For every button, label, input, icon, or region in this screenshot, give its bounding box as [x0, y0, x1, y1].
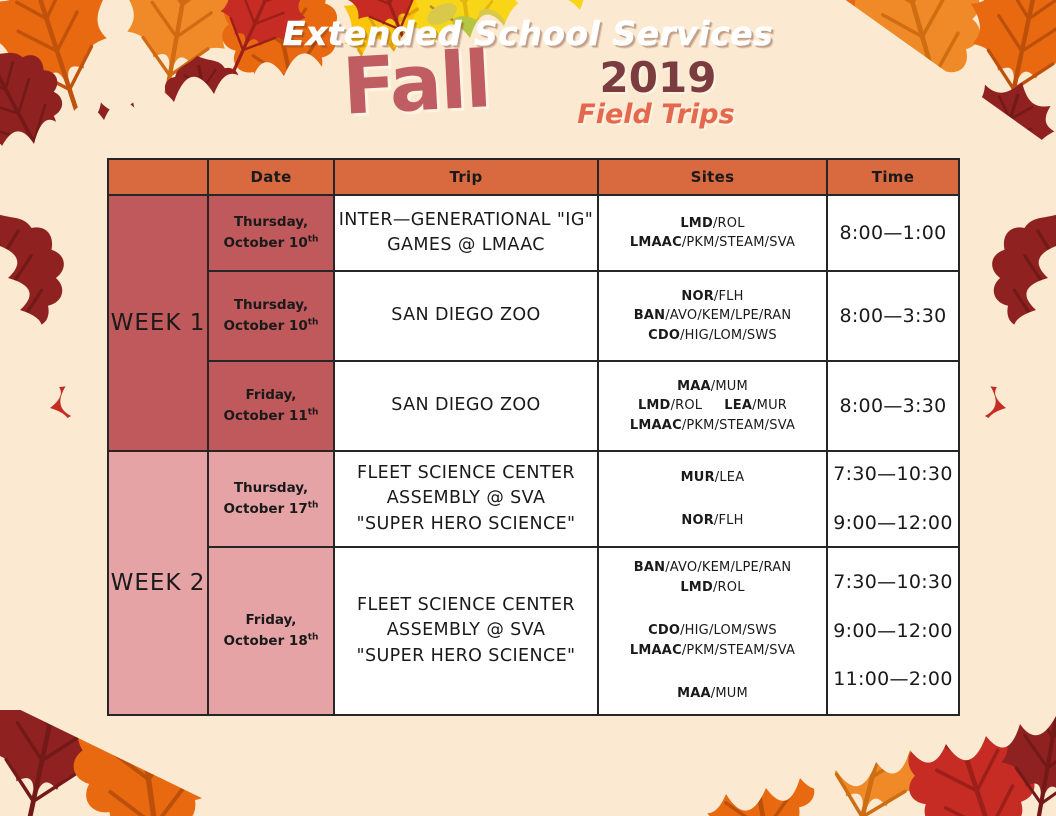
date-day: Friday, — [246, 387, 297, 403]
time-cell: 8:00—3:30 — [827, 271, 959, 361]
season-title: Fall — [341, 41, 492, 127]
site-line: LMAAC/PKM/STEAM/SVA — [599, 233, 826, 253]
time-cell: 7:30—10:30 9:00—12:00 — [827, 451, 959, 547]
date-day: Friday, — [246, 612, 297, 628]
trip-cell: SAN DIEGO ZOO — [334, 361, 598, 451]
sites-spacer — [599, 487, 826, 511]
date-day: Thursday, — [234, 297, 308, 313]
date-cell: Friday, October 18th — [208, 547, 334, 715]
trip-cell: INTER—GENERATIONAL "IG" GAMES @ LMAAC — [334, 195, 598, 271]
time-spacer — [828, 594, 958, 620]
site-line: LMD/ROL — [599, 578, 826, 598]
trip-line: GAMES @ LMAAC — [335, 233, 597, 258]
date-day: Thursday, — [234, 214, 308, 230]
date-date: October 10 — [224, 235, 308, 251]
site-line: BAN/AVO/KEM/LPE/RAN — [599, 558, 826, 578]
sites-cell: BAN/AVO/KEM/LPE/RAN LMD/ROL CDO/HIG/LOM/… — [598, 547, 827, 715]
site-line: MUR/LEA — [599, 468, 826, 488]
sites-group: LMD/ROL LMAAC/PKM/STEAM/SVA — [599, 214, 826, 253]
column-header-week — [108, 159, 208, 195]
field-trip-schedule-table: Date Trip Sites Time WEEK 1 Thursday, Oc… — [107, 158, 960, 716]
time-spacer — [828, 642, 958, 668]
table-row: Friday, October 11th SAN DIEGO ZOO MAA/M… — [108, 361, 959, 451]
week-label-cell-1: WEEK 1 — [108, 195, 208, 451]
table-header: Date Trip Sites Time — [108, 159, 959, 195]
trip-line: FLEET SCIENCE CENTER — [335, 593, 597, 618]
time-line: 7:30—10:30 — [828, 463, 958, 486]
sites-spacer — [599, 597, 826, 621]
organization-title: Extended School Services — [0, 14, 1056, 53]
date-day: Thursday, — [234, 480, 308, 496]
sites-group: CDO/HIG/LOM/SWS LMAAC/PKM/STEAM/SVA — [599, 621, 826, 660]
sites-group: MAA/MUM LMD/ROLLEA/MUR LMAAC/PKM/STEAM/S… — [599, 377, 826, 436]
trip-line: SAN DIEGO ZOO — [335, 393, 597, 418]
subtitle-field-trips: Field Trips — [577, 101, 734, 128]
table-row: Friday, October 18th FLEET SCIENCE CENTE… — [108, 547, 959, 715]
sites-group: MAA/MUM — [599, 684, 826, 704]
date-cell: Friday, October 11th — [208, 361, 334, 451]
time-cell: 8:00—3:30 — [827, 361, 959, 451]
date-cell: Thursday, October 10th — [208, 195, 334, 271]
trip-cell: SAN DIEGO ZOO — [334, 271, 598, 361]
time-line: 7:30—10:30 — [828, 571, 958, 594]
sites-spacer — [599, 660, 826, 684]
trip-cell: FLEET SCIENCE CENTER ASSEMBLY @ SVA "SUP… — [334, 547, 598, 715]
trip-line: "SUPER HERO SCIENCE" — [335, 512, 597, 537]
date-cell: Thursday, October 17th — [208, 451, 334, 547]
sites-group: MUR/LEA — [599, 468, 826, 488]
site-line: BAN/AVO/KEM/LPE/RAN — [599, 306, 826, 326]
site-line: CDO/HIG/LOM/SWS — [599, 621, 826, 641]
season-title-row: Fall 2019 Field Trips — [0, 51, 1056, 147]
sites-group: NOR/FLH BAN/AVO/KEM/LPE/RAN CDO/HIG/LOM/… — [599, 287, 826, 346]
trip-line: "SUPER HERO SCIENCE" — [335, 644, 597, 669]
schedule-table-container: Date Trip Sites Time WEEK 1 Thursday, Oc… — [107, 158, 958, 716]
time-cell: 7:30—10:30 9:00—12:00 11:00—2:00 — [827, 547, 959, 715]
header-row: Date Trip Sites Time — [108, 159, 959, 195]
column-header-trip: Trip — [334, 159, 598, 195]
trip-line: INTER—GENERATIONAL "IG" — [335, 208, 597, 233]
date-ordinal: th — [308, 235, 319, 245]
column-header-time: Time — [827, 159, 959, 195]
site-line: LMAAC/PKM/STEAM/SVA — [599, 641, 826, 661]
date-ordinal: th — [308, 501, 319, 511]
date-date: October 11 — [224, 408, 308, 424]
table-row: WEEK 2 Thursday, October 17th FLEET SCIE… — [108, 451, 959, 547]
time-cell: 8:00—1:00 — [827, 195, 959, 271]
time-spacer — [828, 486, 958, 512]
trip-line: ASSEMBLY @ SVA — [335, 486, 597, 511]
sites-cell: NOR/FLH BAN/AVO/KEM/LPE/RAN CDO/HIG/LOM/… — [598, 271, 827, 361]
table-body: WEEK 1 Thursday, October 10th INTER—GENE… — [108, 195, 959, 715]
sites-cell: LMD/ROL LMAAC/PKM/STEAM/SVA — [598, 195, 827, 271]
site-line: LMD/ROL — [599, 214, 826, 234]
date-date: October 18 — [224, 633, 308, 649]
time-line: 9:00—12:00 — [828, 620, 958, 643]
date-date: October 17 — [224, 501, 308, 517]
year-title: 2019 — [600, 57, 717, 99]
time-line: 8:00—3:30 — [828, 305, 958, 328]
site-line: CDO/HIG/LOM/SWS — [599, 326, 826, 346]
date-ordinal: th — [308, 408, 319, 418]
trip-line: ASSEMBLY @ SVA — [335, 618, 597, 643]
date-cell: Thursday, October 10th — [208, 271, 334, 361]
site-line: LMD/ROLLEA/MUR — [599, 396, 826, 416]
trip-line: FLEET SCIENCE CENTER — [335, 461, 597, 486]
time-line: 11:00—2:00 — [828, 668, 958, 691]
sites-group: NOR/FLH — [599, 511, 826, 531]
trip-cell: FLEET SCIENCE CENTER ASSEMBLY @ SVA "SUP… — [334, 451, 598, 547]
date-ordinal: th — [308, 318, 319, 328]
week-label-cell-2: WEEK 2 — [108, 451, 208, 715]
site-line: NOR/FLH — [599, 511, 826, 531]
table-row: Thursday, October 10th SAN DIEGO ZOO NOR… — [108, 271, 959, 361]
poster-title-block: Extended School Services Fall 2019 Field… — [0, 0, 1056, 150]
time-line: 8:00—3:30 — [828, 395, 958, 418]
column-header-sites: Sites — [598, 159, 827, 195]
site-line: NOR/FLH — [599, 287, 826, 307]
site-line: MAA/MUM — [599, 377, 826, 397]
date-ordinal: th — [308, 633, 319, 643]
sites-group: BAN/AVO/KEM/LPE/RAN LMD/ROL — [599, 558, 826, 597]
sites-cell: MUR/LEA NOR/FLH — [598, 451, 827, 547]
date-date: October 10 — [224, 318, 308, 334]
poster-canvas: Extended School Services Fall 2019 Field… — [0, 0, 1056, 816]
site-line: MAA/MUM — [599, 684, 826, 704]
trip-line: SAN DIEGO ZOO — [335, 303, 597, 328]
time-line: 9:00—12:00 — [828, 512, 958, 535]
table-row: WEEK 1 Thursday, October 10th INTER—GENE… — [108, 195, 959, 271]
time-line: 8:00—1:00 — [828, 222, 958, 245]
sites-cell: MAA/MUM LMD/ROLLEA/MUR LMAAC/PKM/STEAM/S… — [598, 361, 827, 451]
site-line: LMAAC/PKM/STEAM/SVA — [599, 416, 826, 436]
column-header-date: Date — [208, 159, 334, 195]
